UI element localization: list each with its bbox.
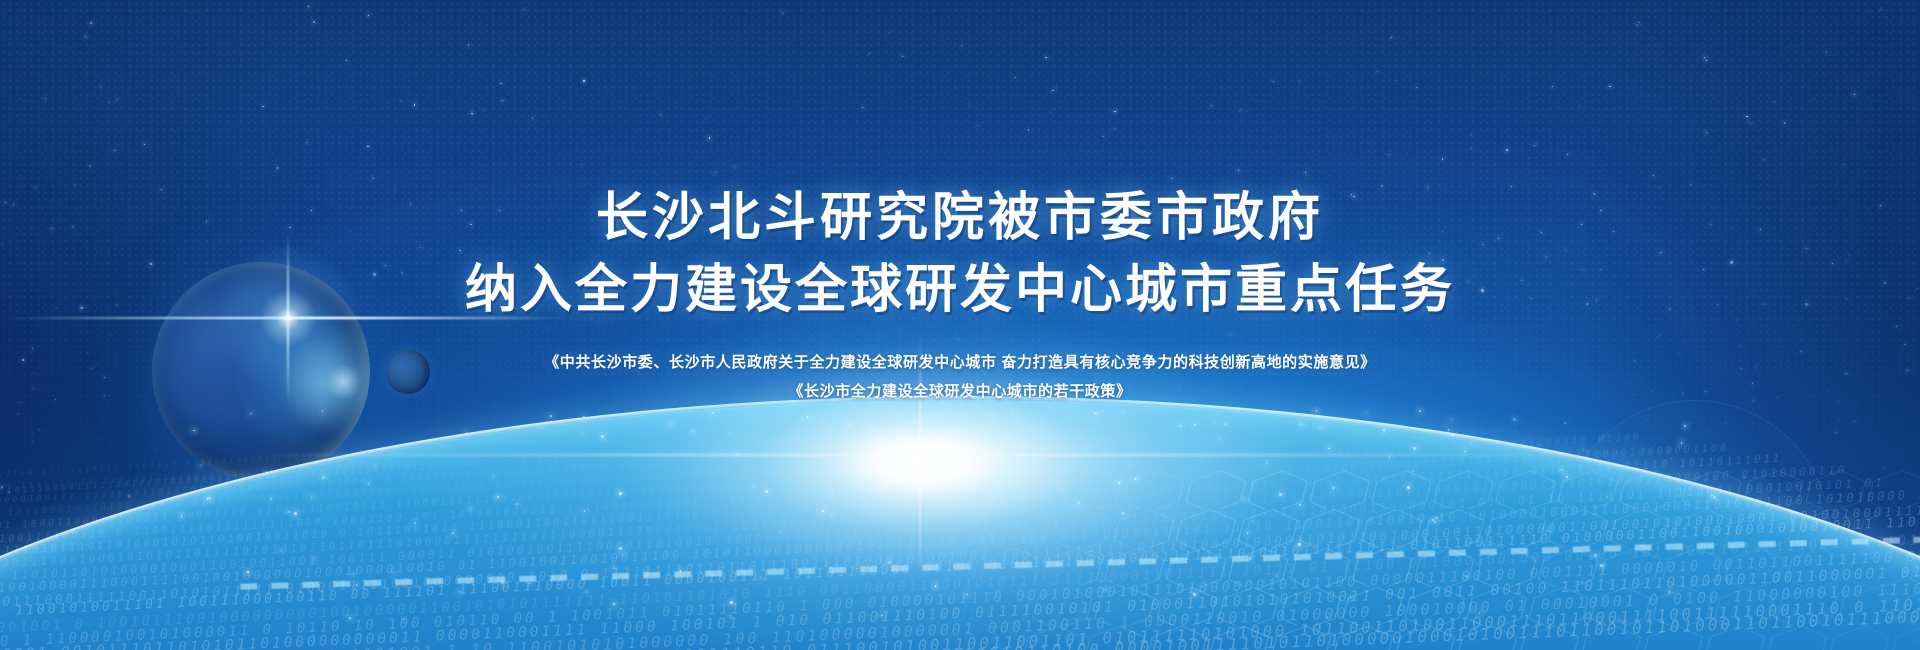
banner-content: 长沙北斗研究院被市委市政府 纳入全力建设全球研发中心城市重点任务 《中共长沙市委… [0, 0, 1920, 650]
banner-hero: 11001110110000011111101111 1110111 11010… [0, 0, 1920, 650]
banner-subtitle-1: 《中共长沙市委、长沙市人民政府关于全力建设全球研发中心城市 奋力打造具有核心竞争… [544, 348, 1376, 377]
banner-subtitle-block: 《中共长沙市委、长沙市人民政府关于全力建设全球研发中心城市 奋力打造具有核心竞争… [544, 348, 1376, 406]
banner-title-line-1: 长沙北斗研究院被市委市政府 [596, 182, 1324, 254]
banner-subtitle-2: 《长沙市全力建设全球研发中心城市的若干政策》 [544, 377, 1376, 406]
banner-title-line-2: 纳入全力建设全球研发中心城市重点任务 [465, 254, 1455, 326]
